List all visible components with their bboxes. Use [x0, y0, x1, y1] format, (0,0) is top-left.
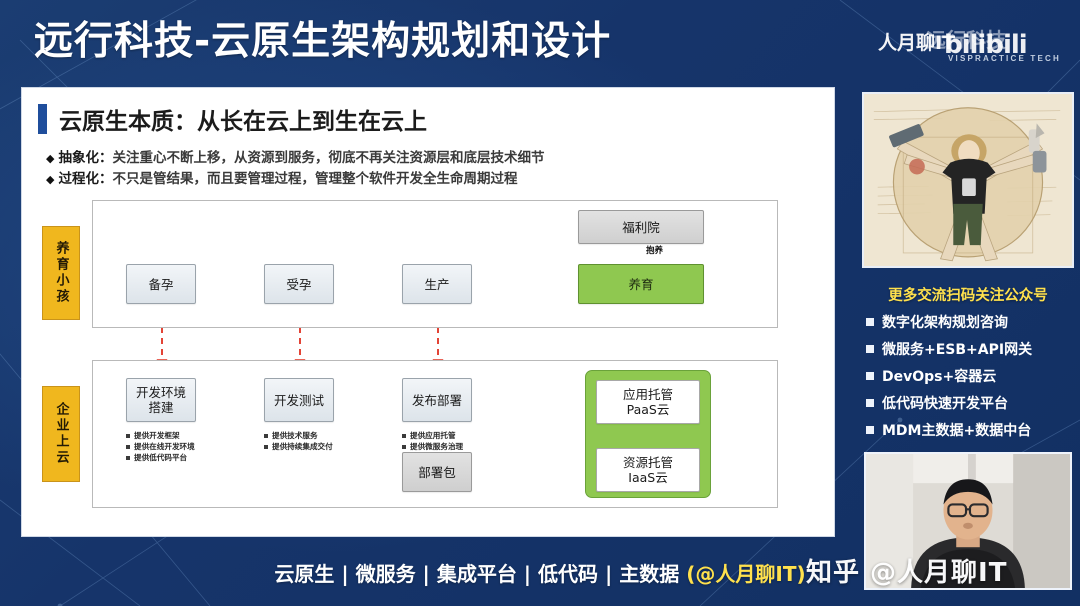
sublist-item: 提供低代码平台: [126, 452, 195, 463]
node-release-deploy: 发布部署: [402, 378, 472, 422]
footer-tag-list: 云原生 | 微服务 | 集成平台 | 低代码 | 主数据: [274, 562, 679, 586]
bullet-term: 过程化：: [58, 169, 112, 189]
sublist-dev-test: 提供技术服务 提供持续集成交付: [264, 430, 333, 452]
node-label-line1: 应用托管: [623, 387, 673, 402]
node-nurturing: 养育: [578, 264, 704, 304]
vitruvian-man-image: [862, 92, 1074, 268]
square-bullet-icon: [866, 372, 874, 380]
node-label: 受孕: [286, 277, 311, 292]
zhihu-watermark: 知乎 @人月聊IT: [806, 552, 1007, 589]
bullet-term: 抽象化：: [58, 148, 112, 168]
row-label-text: 企业上云: [52, 402, 71, 466]
promo-item-4: MDM主数据+数据中台: [856, 420, 1080, 440]
slide-card: 云原生本质：从长在云上到生在云上 ◆ 抽象化： 关注重心不断上移，从资源到服务，…: [22, 88, 834, 536]
square-bullet-icon: [126, 456, 130, 460]
sublist-item: 提供持续集成交付: [264, 441, 333, 452]
node-label-line2: 搭建: [148, 400, 173, 415]
page-title: 远行科技-云原生架构规划和设计: [34, 10, 611, 66]
square-bullet-icon: [866, 426, 874, 434]
node-label-line2: IaaS云: [628, 470, 667, 485]
node-deployment-package: 部署包: [402, 452, 472, 492]
edge-label-adopt: 抱养: [646, 244, 663, 256]
square-bullet-icon: [866, 399, 874, 407]
square-bullet-icon: [866, 318, 874, 326]
promo-item-label: 微服务+ESB+API网关: [882, 339, 1032, 359]
promo-item-0: 数字化架构规划咨询: [856, 312, 1080, 332]
node-label: 部署包: [418, 465, 456, 480]
watermark-tagline: VISPRACTICE TECH: [948, 54, 1061, 63]
top-right-watermark-group: 远行科技 人月聊IT bilibili VISPRACTICE TECH: [878, 16, 1078, 64]
bullet-text: 不只是管结果，而且要管理过程，管理整个软件开发全生命周期过程: [112, 169, 517, 189]
node-iaas-cloud: 资源托管 IaaS云: [596, 448, 700, 492]
promo-title: 更多交流扫码关注公众号: [856, 284, 1080, 305]
promo-item-label: 数字化架构规划咨询: [882, 312, 1008, 332]
sublist-dev-environment: 提供开发框架 提供在线开发环境 提供低代码平台: [126, 430, 195, 463]
node-label: 备孕: [148, 277, 173, 292]
node-conception: 受孕: [264, 264, 334, 304]
vitruvian-illustration: [864, 94, 1072, 267]
square-bullet-icon: [126, 434, 130, 438]
node-label: 发布部署: [412, 393, 462, 408]
bullet-list: ◆ 抽象化： 关注重心不断上移，从资源到服务，彻底不再关注资源层和底层技术细节 …: [46, 148, 544, 190]
row-label-enterprise-cloud: 企业上云: [42, 386, 80, 482]
node-welfare-house: 福利院: [578, 210, 704, 244]
sublist-release-deploy: 提供应用托管 提供微服务治理: [402, 430, 463, 452]
promo-item-label: DevOps+容器云: [882, 366, 996, 386]
square-bullet-icon: [264, 445, 268, 449]
slide-title: 云原生本质：从长在云上到生在云上: [59, 102, 427, 136]
node-childbirth: 生产: [402, 264, 472, 304]
diamond-bullet-icon: ◆: [46, 149, 54, 169]
node-label: 开发环境 搭建: [136, 385, 186, 415]
promo-item-label: MDM主数据+数据中台: [882, 420, 1031, 440]
slide-screenshot: 远行科技-云原生架构规划和设计 远行科技 人月聊IT bilibili VISP…: [0, 0, 1080, 606]
node-dev-test: 开发测试: [264, 378, 334, 422]
slide-heading: 云原生本质：从长在云上到生在云上: [38, 102, 427, 136]
footer-tags: 云原生 | 微服务 | 集成平台 | 低代码 | 主数据 (@人月聊IT): [274, 558, 805, 587]
node-label-line1: 资源托管: [623, 455, 673, 470]
node-label: 养育: [628, 277, 653, 292]
promo-item-2: DevOps+容器云: [856, 366, 1080, 386]
promo-item-3: 低代码快速开发平台: [856, 393, 1080, 413]
sublist-item: 提供在线开发环境: [126, 441, 195, 452]
node-label: 应用托管 PaaS云: [623, 387, 673, 417]
bullet-item: ◆ 抽象化： 关注重心不断上移，从资源到服务，彻底不再关注资源层和底层技术细节: [46, 148, 544, 169]
row-label-text: 养育小孩: [52, 241, 71, 305]
node-label: 福利院: [622, 220, 660, 235]
node-label: 资源托管 IaaS云: [623, 455, 673, 485]
square-bullet-icon: [402, 445, 406, 449]
heading-accent-bar: [38, 104, 47, 134]
promo-item-label: 低代码快速开发平台: [882, 393, 1008, 413]
node-preparing-pregnancy: 备孕: [126, 264, 196, 304]
sublist-item: 提供技术服务: [264, 430, 333, 441]
node-label-line1: 开发环境: [136, 385, 186, 400]
bullet-item: ◆ 过程化： 不只是管结果，而且要管理过程，管理整个软件开发全生命周期过程: [46, 169, 544, 190]
square-bullet-icon: [264, 434, 268, 438]
square-bullet-icon: [866, 345, 874, 353]
diamond-bullet-icon: ◆: [46, 170, 54, 190]
footer-handle: (@人月聊IT): [686, 562, 805, 586]
row-label-raising-child: 养育小孩: [42, 226, 80, 320]
process-diagram: 养育小孩 福利院 抱养 备孕 受孕 生产 养育 企业上云: [22, 200, 834, 520]
node-paas-cloud: 应用托管 PaaS云: [596, 380, 700, 424]
square-bullet-icon: [402, 434, 406, 438]
promo-item-1: 微服务+ESB+API网关: [856, 339, 1080, 359]
sublist-item: 提供微服务治理: [402, 441, 463, 452]
bullet-text: 关注重心不断上移，从资源到服务，彻底不再关注资源层和底层技术细节: [112, 148, 544, 168]
square-bullet-icon: [126, 445, 130, 449]
node-label-line2: PaaS云: [627, 402, 670, 417]
node-label: 开发测试: [274, 393, 324, 408]
node-dev-environment-setup: 开发环境 搭建: [126, 378, 196, 422]
sublist-item: 提供开发框架: [126, 430, 195, 441]
sublist-item: 提供应用托管: [402, 430, 463, 441]
promo-block: 更多交流扫码关注公众号 数字化架构规划咨询 微服务+ESB+API网关 DevO…: [856, 284, 1080, 440]
node-label: 生产: [424, 277, 449, 292]
